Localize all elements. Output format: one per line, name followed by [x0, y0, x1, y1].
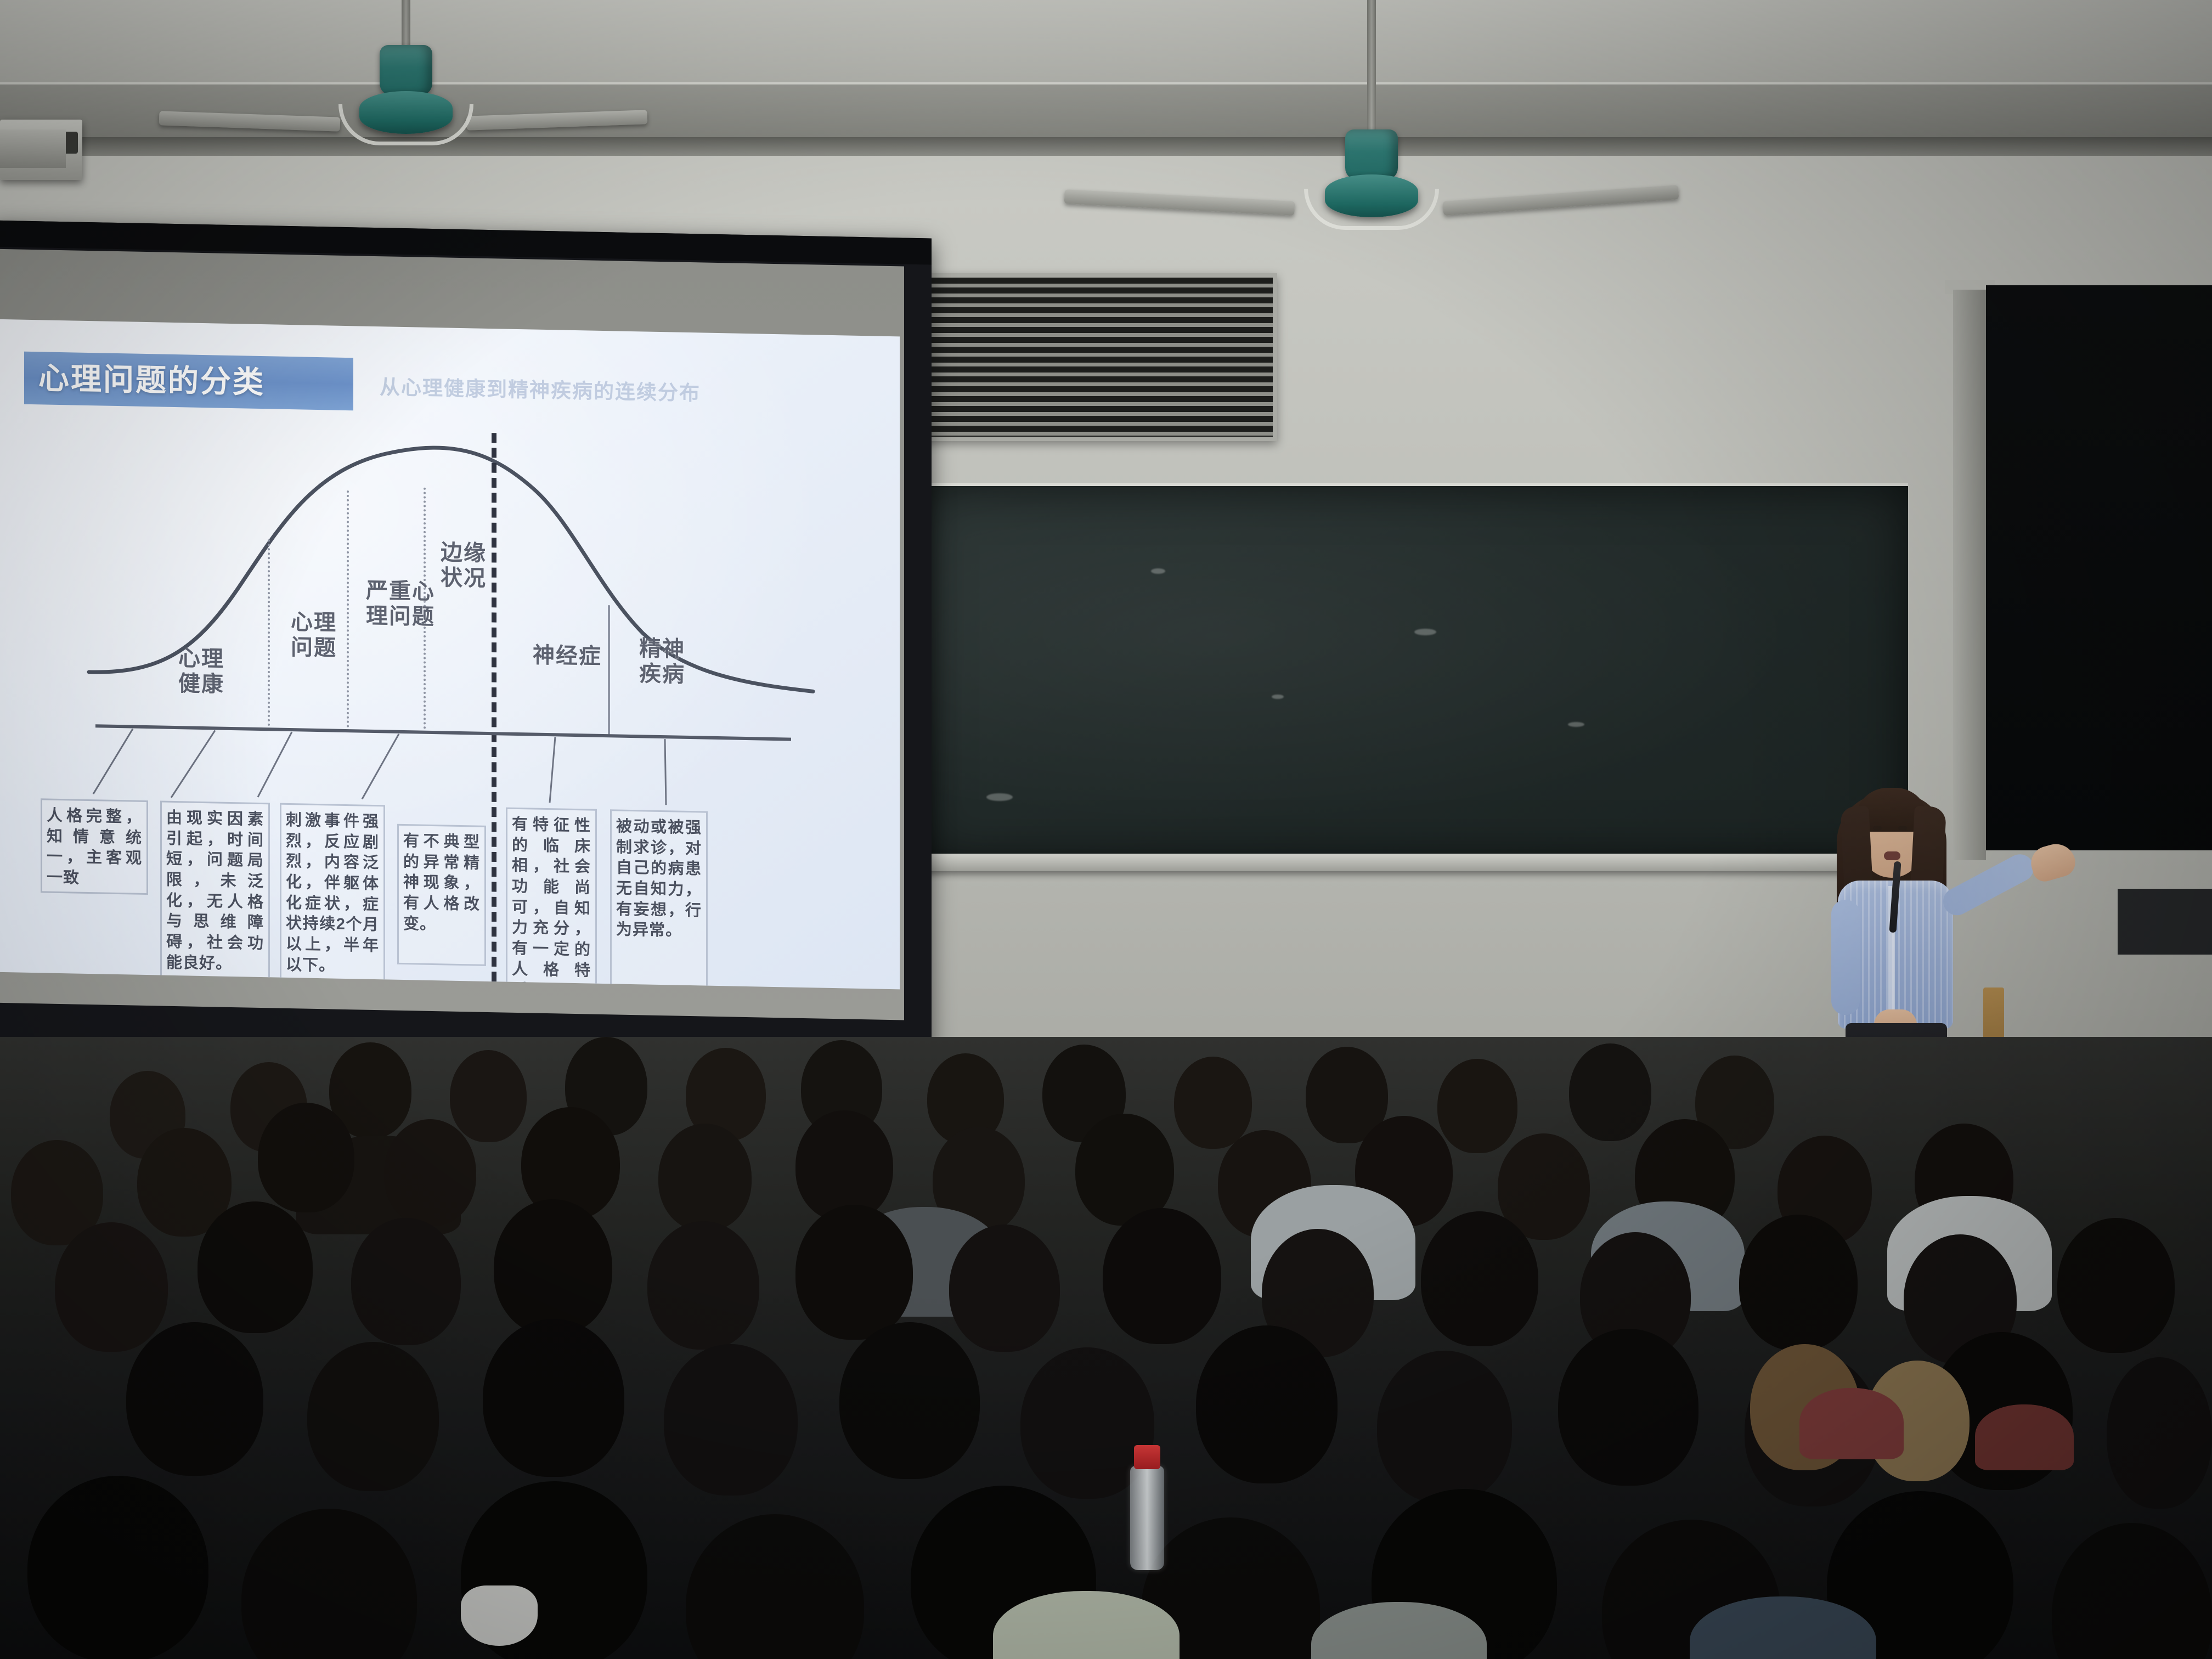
divider-major [492, 433, 496, 981]
blackboard-right-panel [1986, 285, 2212, 850]
classroom-scene: 心理问题的分类 从心理健康到精神疾病的连续分布 心理 健康 [0, 0, 2212, 1659]
ceiling-fan-left [324, 0, 488, 165]
fan-guard-ring [338, 104, 473, 145]
slide-subtitle: 从心理健康到精神疾病的连续分布 [380, 370, 701, 406]
description-box-5: 有特征性的临床相，社会功能尚可，自知力充分，有一定的人格特质。 [506, 808, 597, 990]
divider-4 [608, 605, 610, 737]
slide-title-banner: 心理问题的分类 [24, 352, 353, 411]
fan-motor [1345, 129, 1398, 180]
wall-dark-panel [2118, 889, 2212, 955]
lecturer-eye-left [1873, 826, 1882, 830]
fan-motor [380, 45, 432, 95]
face-mask [461, 1585, 538, 1646]
lecturer-arm-left [1831, 900, 1860, 1015]
description-box-4: 有不典型的异常精神现象，有人格改变。 [397, 824, 486, 966]
water-bottle-cap [1134, 1445, 1160, 1469]
category-label-2: 心理 问题 [281, 610, 347, 661]
projector-mount [0, 129, 66, 168]
category-label-1: 心理 健康 [160, 646, 242, 697]
description-box-6: 被动或被强制求诊，对自己的病患无自知力，有妄想，行为异常。 [610, 809, 708, 989]
fan-rod [402, 0, 410, 48]
fan-rod [1367, 0, 1376, 132]
description-box-1: 人格完整，知情意统一，主客观一致 [41, 798, 148, 895]
lecturer-eye-right [1898, 826, 1907, 830]
divider-2 [347, 490, 349, 732]
description-box-3: 刺激事件强烈，反应剧烈，内容泛化，伴躯体化症状，症状持续2个月以上，半年以下。 [280, 803, 385, 990]
projection-screen: 心理问题的分类 从心理健康到精神疾病的连续分布 心理 健康 [0, 221, 932, 1056]
divider-1 [268, 539, 270, 730]
lecturer-mouth [1884, 851, 1900, 860]
ceiling-fan-right [1278, 0, 1465, 230]
category-label-4: 边缘 状况 [430, 540, 497, 592]
category-label-6: 精神 疾病 [627, 636, 698, 688]
slide-canvas: 心理问题的分类 从心理健康到精神疾病的连续分布 心理 健康 [0, 319, 900, 990]
wall-air-vent [917, 273, 1277, 441]
description-box-2: 由现实因素引起，时间短，问题局限，未泛化，无人格与思维障碍，社会功能良好。 [160, 800, 270, 984]
water-bottle [1130, 1466, 1164, 1570]
audience-area [0, 1037, 2212, 1659]
board-edge-post [1953, 290, 1986, 860]
category-label-5: 神经症 [518, 643, 617, 670]
fan-guard-ring [1304, 189, 1439, 230]
blackboard [921, 483, 1908, 859]
chalk-tray [911, 854, 1920, 871]
slide-title: 心理问题的分类 [24, 352, 353, 411]
